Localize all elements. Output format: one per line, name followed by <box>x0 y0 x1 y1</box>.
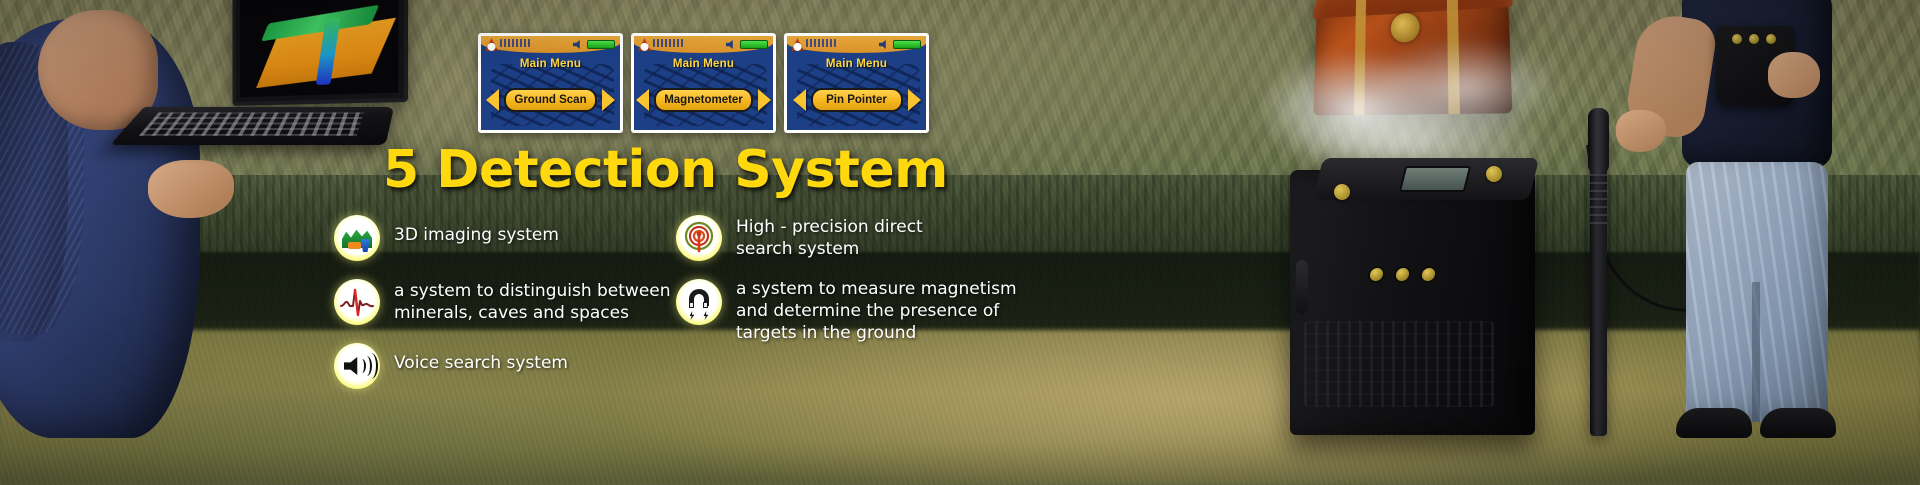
device-menu-header: Main Menu <box>481 58 620 70</box>
battery-icon <box>740 40 768 49</box>
person-right <box>1640 0 1900 485</box>
laptop <box>128 0 398 180</box>
feature-label: a system to distinguish between minerals… <box>394 279 671 325</box>
speaker-icon <box>334 343 380 389</box>
right-scene-person-with-detector <box>1260 0 1920 485</box>
page-title: 5 Detection System <box>383 140 948 200</box>
horseshoe-magnet <box>689 289 709 307</box>
pouch-knob <box>1732 34 1742 44</box>
feature-label: a system to measure magnetism and determ… <box>736 279 1017 344</box>
pouch-knob <box>1766 34 1776 44</box>
battery-icon <box>893 40 921 49</box>
detector-port <box>1419 266 1438 283</box>
person-right-hand-on-probe <box>1616 110 1666 152</box>
pouch-knob <box>1749 34 1759 44</box>
feature-label: Voice search system <box>394 343 568 375</box>
feature-label: High - precision direct search system <box>736 215 923 261</box>
device-menu-header: Main Menu <box>634 58 773 70</box>
laptop-keyboard-base <box>110 107 394 145</box>
device-mode-button[interactable]: Ground Scan <box>504 88 596 112</box>
detector-port <box>1367 266 1386 283</box>
promo-banner: Main Menu Ground Scan Main Menu Magnetom… <box>0 0 1920 485</box>
next-arrow-icon[interactable] <box>908 89 921 111</box>
device-status-bar <box>787 36 926 53</box>
detector-case-texture <box>1304 321 1494 407</box>
radar-signal-icon <box>676 215 722 261</box>
person-right-jeans <box>1686 162 1828 422</box>
radar-rings-path <box>676 215 722 261</box>
magnet-pole-left <box>689 302 694 308</box>
feature-list-left: 3D imaging system a system to distinguis… <box>334 215 734 407</box>
detector-display-screen <box>1399 166 1471 192</box>
feature-label-line1: a system to distinguish between <box>394 281 671 303</box>
person-right-hand-on-pouch <box>1768 52 1820 98</box>
probe-rod <box>1590 126 1607 436</box>
laptop-keys <box>139 112 364 135</box>
feature-label-line2: minerals, caves and spaces <box>394 303 671 325</box>
feature-item-magnetism-measure: a system to measure magnetism and determ… <box>676 279 1096 344</box>
3d-terrain-icon <box>334 215 380 261</box>
brand-logo-icon <box>791 38 804 51</box>
feature-item-high-precision-search: High - precision direct search system <box>676 215 1096 261</box>
detector-handle <box>1296 260 1308 314</box>
pouch-knobs <box>1732 34 1776 44</box>
device-mode-button[interactable]: Magnetometer <box>654 88 753 112</box>
feature-label-line2: search system <box>736 239 923 261</box>
device-screen-magnetometer[interactable]: Main Menu Magnetometer <box>631 33 776 133</box>
device-screen-gallery: Main Menu Ground Scan Main Menu Magnetom… <box>478 33 929 133</box>
device-screen-pin-pointer[interactable]: Main Menu Pin Pointer <box>784 33 929 133</box>
device-mode-selector: Pin Pointer <box>787 88 926 112</box>
device-menu-header: Main Menu <box>787 58 926 70</box>
terrain-blue-layer <box>361 239 370 252</box>
speaker-icon <box>573 40 582 49</box>
brand-wordmark <box>500 39 530 47</box>
smoke-overlay <box>1260 26 1590 176</box>
laptop-screen-3d-scan <box>240 0 398 97</box>
probe-grip <box>1588 108 1609 174</box>
device-status-bar <box>634 36 773 53</box>
speaker-icon <box>879 40 888 49</box>
prev-arrow-icon[interactable] <box>636 89 649 111</box>
scan-3d-visualization <box>263 0 390 91</box>
detector-case <box>1290 170 1535 435</box>
feature-label-line2: and determine the presence of <box>736 301 1017 323</box>
lightning-bolt-icon <box>689 311 695 320</box>
laptop-lid <box>232 0 408 106</box>
feature-list-right: High - precision direct search system a … <box>676 215 1096 362</box>
feature-item-3d-imaging: 3D imaging system <box>334 215 734 261</box>
lightning-bolt-icon <box>703 311 709 320</box>
feature-item-mineral-cave-distinction: a system to distinguish between minerals… <box>334 279 734 325</box>
terrain-orange-layer <box>348 242 361 249</box>
feature-label-line3: targets in the ground <box>736 323 1017 345</box>
probe-rings <box>1590 172 1607 224</box>
feature-item-voice-search: Voice search system <box>334 343 734 389</box>
magnet-pole-right <box>703 302 708 308</box>
prev-arrow-icon[interactable] <box>793 89 806 111</box>
battery-icon <box>587 40 615 49</box>
brand-logo-icon <box>485 38 498 51</box>
jeans-leg-separation <box>1752 282 1760 422</box>
person-right-shoe <box>1676 408 1752 438</box>
feature-label: 3D imaging system <box>394 215 559 247</box>
prev-arrow-icon[interactable] <box>486 89 499 111</box>
device-mode-button[interactable]: Pin Pointer <box>811 88 903 112</box>
ecg-waveform-icon <box>334 279 380 325</box>
feature-label-line1: High - precision direct <box>736 217 923 239</box>
device-mode-selector: Ground Scan <box>481 88 620 112</box>
detector-port <box>1393 266 1412 283</box>
person-right-shoe <box>1760 408 1836 438</box>
device-status-bar <box>481 36 620 53</box>
device-screen-ground-scan[interactable]: Main Menu Ground Scan <box>478 33 623 133</box>
brand-logo-icon <box>638 38 651 51</box>
next-arrow-icon[interactable] <box>602 89 615 111</box>
ecg-waveform-path <box>334 279 380 325</box>
next-arrow-icon[interactable] <box>758 89 771 111</box>
feature-label-line1: a system to measure magnetism <box>736 279 1017 301</box>
speaker-icon <box>726 40 735 49</box>
device-mode-selector: Magnetometer <box>634 88 773 112</box>
detector-ports <box>1367 266 1438 283</box>
brand-wordmark <box>806 39 836 47</box>
detector-knob <box>1486 166 1502 182</box>
detector-knob <box>1334 184 1350 200</box>
magnet-icon <box>676 279 722 325</box>
brand-wordmark <box>653 39 683 47</box>
sound-wave-3 <box>364 353 378 379</box>
